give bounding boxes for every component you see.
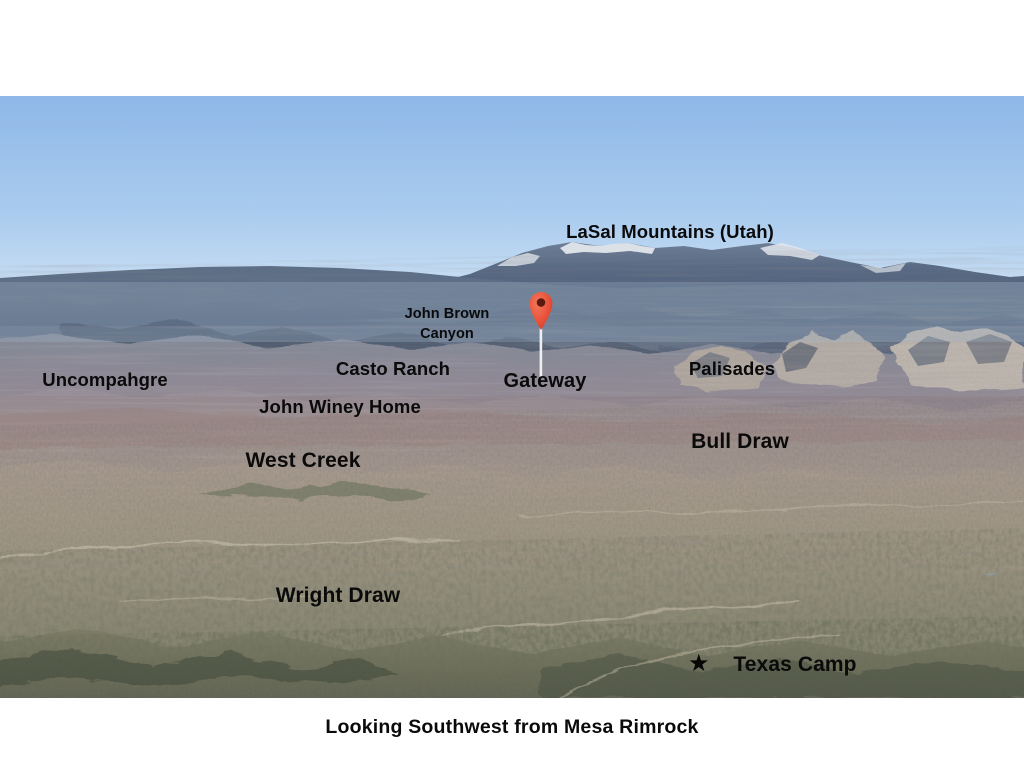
map-label-gateway: Gateway [504, 370, 587, 392]
map-label-john-brown-canyon-2: Canyon [420, 326, 474, 342]
map-label-west-creek: West Creek [245, 449, 360, 473]
map-label-casto-ranch: Casto Ranch [336, 359, 450, 380]
map-label-palisades: Palisades [689, 359, 775, 380]
slide-caption-bar: Looking Southwest from Mesa Rimrock [0, 698, 1024, 768]
map-label-uncompahgre: Uncompahgre [42, 370, 167, 391]
map-label-john-winey-home: John Winey Home [259, 397, 421, 418]
map-annotation-layer: LaSal Mountains (Utah)John BrownCanyonCa… [0, 96, 1024, 698]
terrain-panorama-photo: LaSal Mountains (Utah)John BrownCanyonCa… [0, 96, 1024, 698]
caption-text: Looking Southwest from Mesa Rimrock [325, 716, 698, 739]
map-label-lasal-mountains: LaSal Mountains (Utah) [566, 222, 774, 243]
slide-root: LaSal Mountains (Utah)John BrownCanyonCa… [0, 0, 1024, 768]
star-marker: ★ [688, 652, 710, 676]
map-label-texas-camp: Texas Camp [733, 653, 856, 677]
map-label-john-brown-canyon: John Brown [405, 306, 490, 322]
map-label-bull-draw: Bull Draw [691, 430, 789, 454]
map-label-wright-draw: Wright Draw [276, 584, 400, 608]
